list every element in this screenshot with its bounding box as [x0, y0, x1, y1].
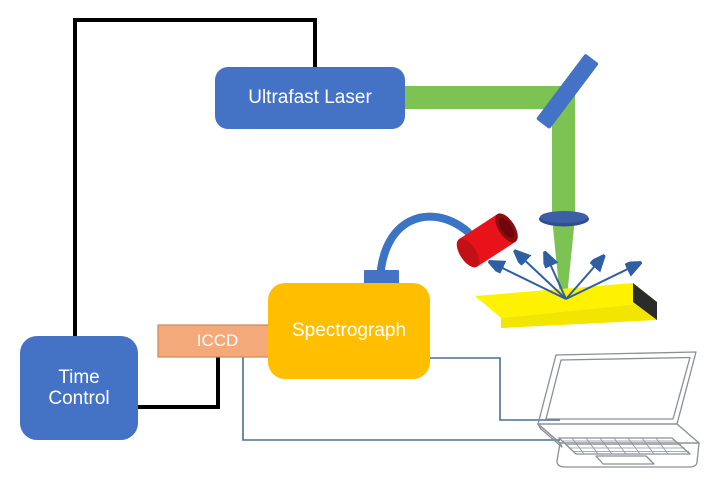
spectrograph-box[interactable] [268, 283, 430, 379]
sample-target [475, 283, 657, 328]
time-control-box[interactable] [20, 336, 138, 440]
collection-optic [452, 210, 522, 271]
iccd-box[interactable] [158, 325, 277, 357]
computer[interactable] [538, 352, 699, 467]
focusing-lens [539, 211, 589, 227]
schematic-svg [0, 0, 723, 499]
laser-box[interactable] [215, 67, 405, 129]
data-cable-spectrograph [430, 358, 560, 420]
diagram-canvas: Ultrafast Laser Spectrograph Time Contro… [0, 0, 723, 499]
